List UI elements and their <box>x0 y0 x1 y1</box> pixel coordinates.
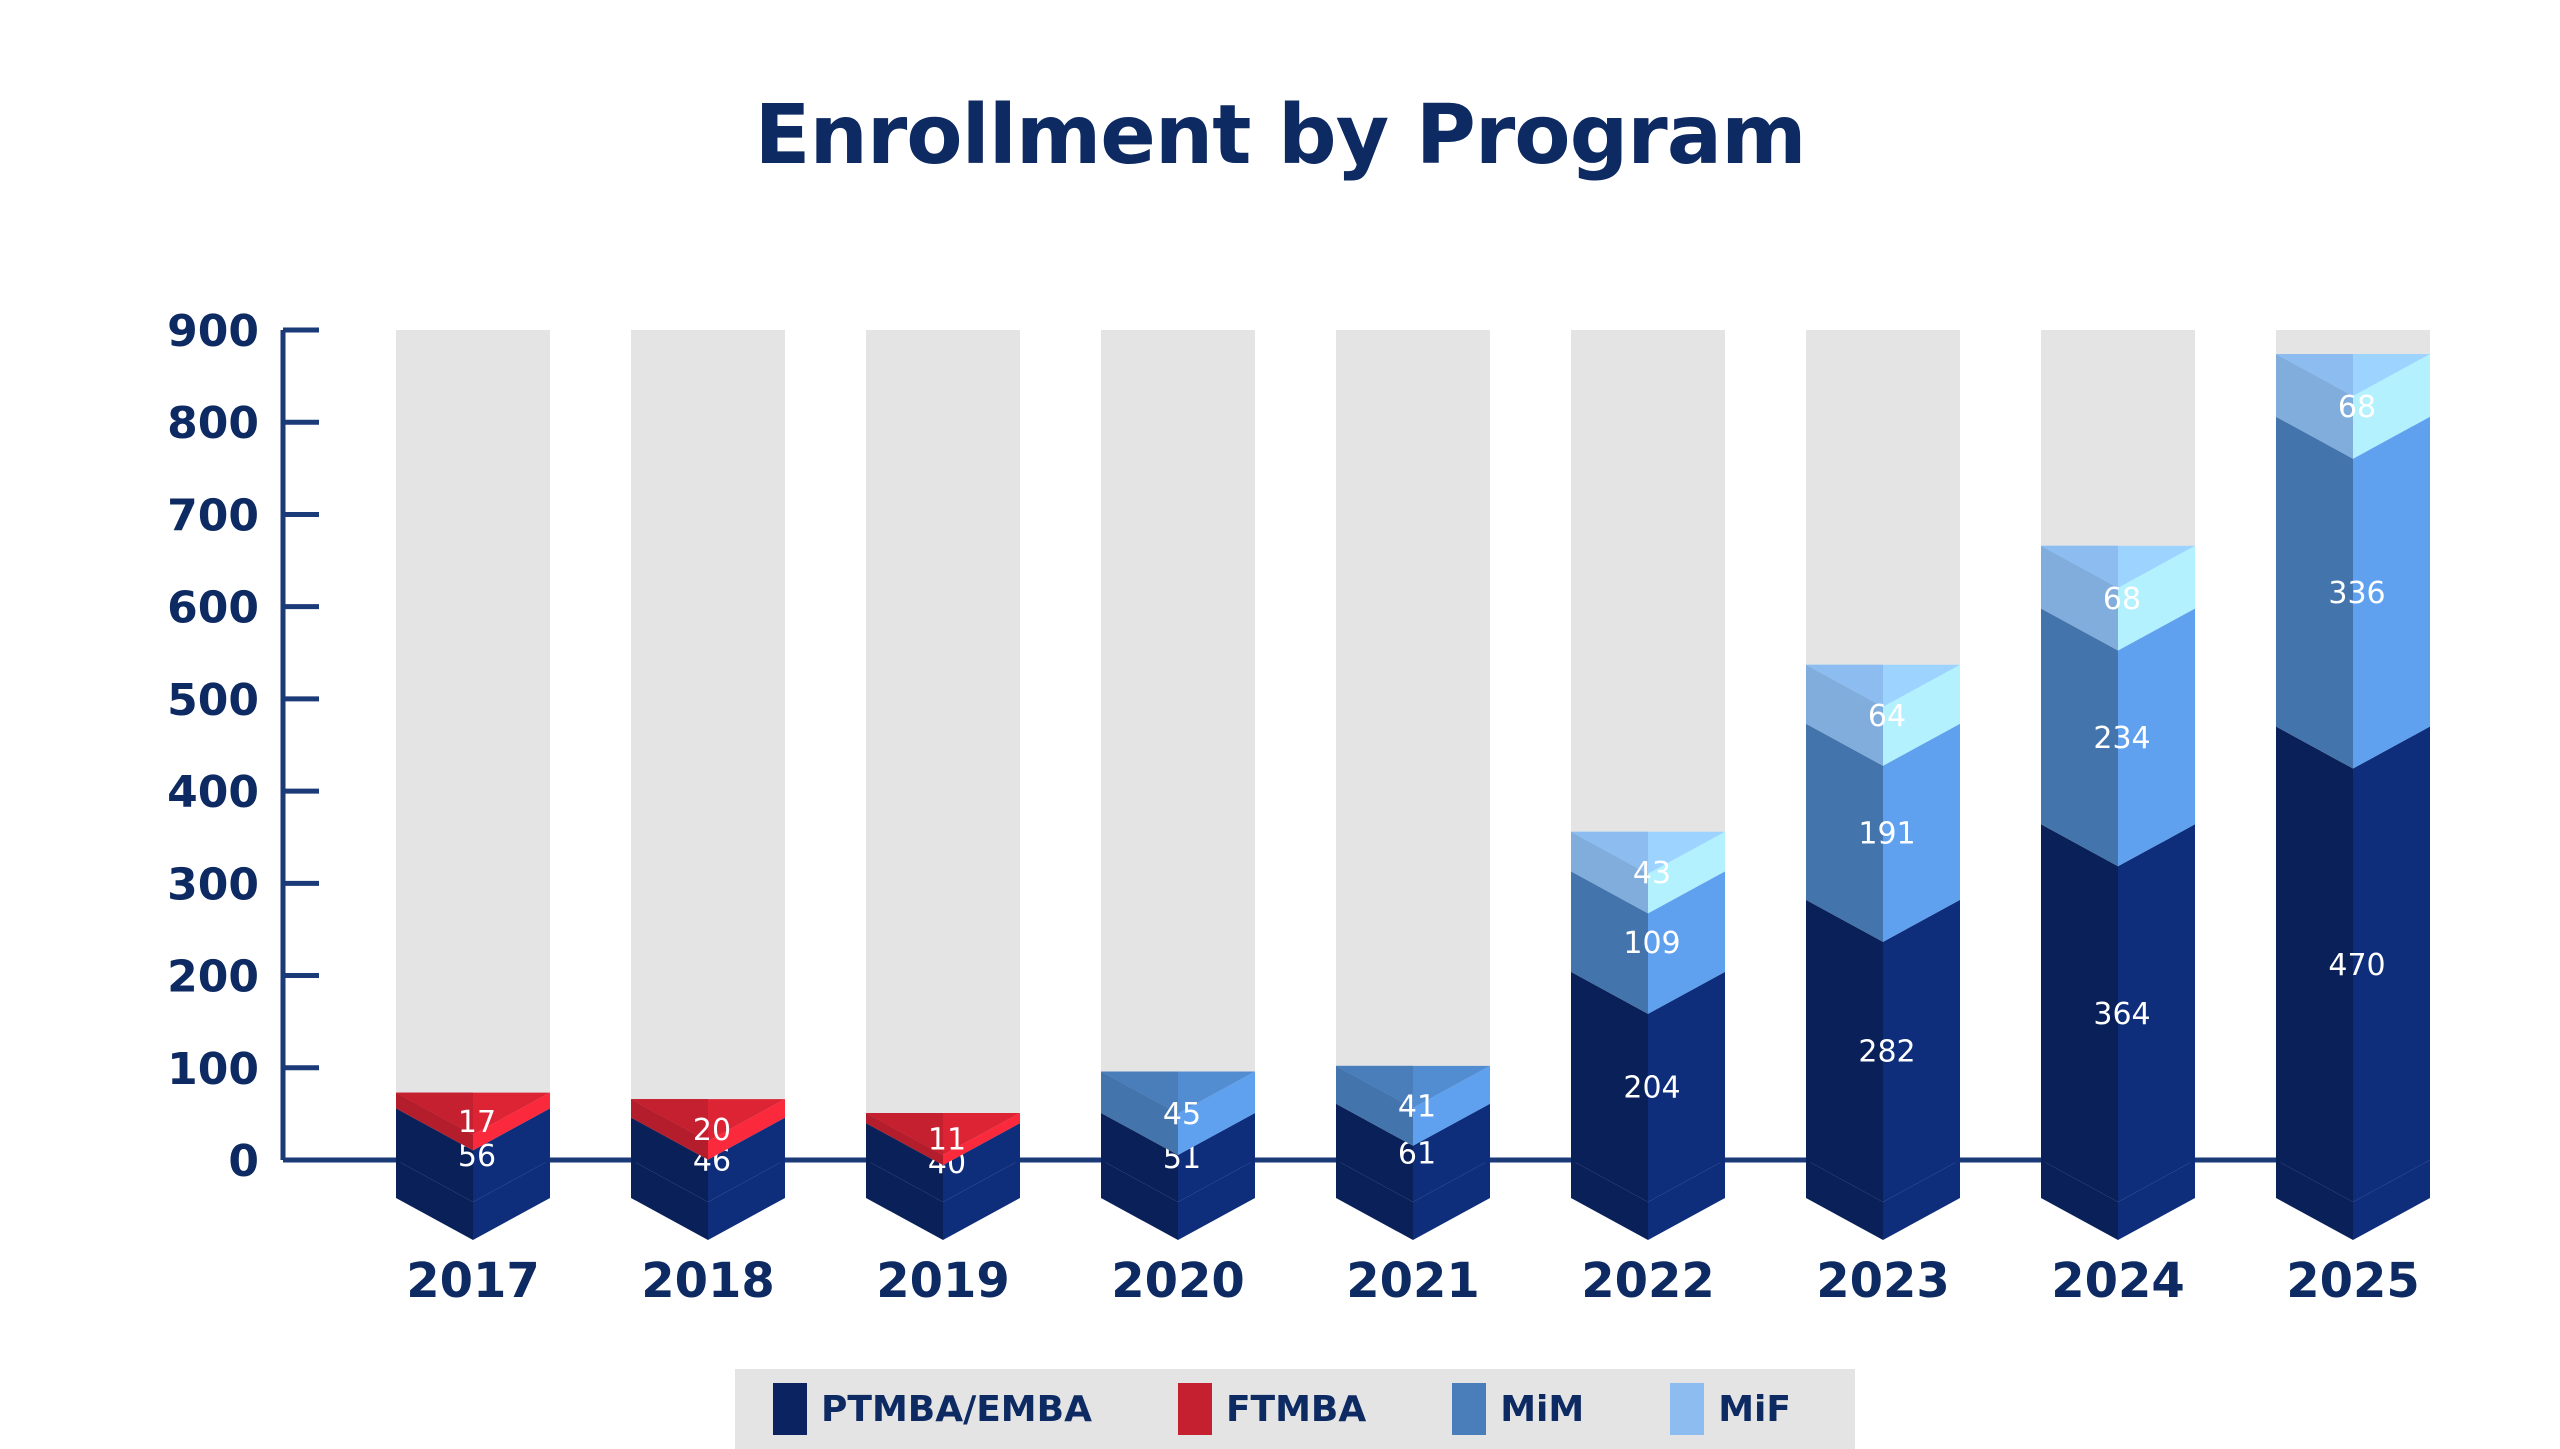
legend-swatch <box>1452 1383 1486 1435</box>
x-axis-tick-label: 2018 <box>641 1253 775 1309</box>
x-axis-tick-label: 2021 <box>1346 1253 1480 1309</box>
bar-track <box>1336 330 1490 1160</box>
bar-value-label: 43 <box>1633 856 1671 891</box>
bar-column[interactable]: 47033668 <box>2276 330 2430 1240</box>
bar-value-label: 336 <box>2328 576 2385 611</box>
legend-label: MiF <box>1718 1389 1791 1430</box>
bar-value-label: 234 <box>2093 721 2150 756</box>
bar-track <box>866 330 1020 1160</box>
bar-value-label: 204 <box>1623 1071 1680 1106</box>
bar-value-label: 45 <box>1163 1097 1201 1132</box>
legend-item[interactable]: MiM <box>1452 1383 1584 1435</box>
y-axis-tick-label: 400 <box>167 767 259 818</box>
bar-value-label: 68 <box>2338 390 2376 425</box>
legend-swatch <box>1178 1383 1212 1435</box>
y-axis-tick-label: 0 <box>228 1136 259 1187</box>
legend-label: FTMBA <box>1226 1389 1366 1430</box>
bar-column[interactable]: 28219164 <box>1806 330 1960 1240</box>
bar-value-label: 41 <box>1398 1089 1436 1124</box>
bar-value-label: 109 <box>1623 926 1680 961</box>
chart-container: Enrollment by Program 010020030040050060… <box>0 0 2560 1449</box>
bar-column[interactable]: 6141 <box>1336 330 1490 1240</box>
legend-swatch <box>773 1383 807 1435</box>
bar-value-label: 68 <box>2103 582 2141 617</box>
bar-value-label: 17 <box>458 1105 496 1140</box>
stacked-bar-plot: 0100200300400500600700800900561720174620… <box>0 0 2560 1340</box>
y-axis-tick-label: 800 <box>167 398 259 449</box>
bar-column[interactable]: 20410943 <box>1571 330 1725 1240</box>
bar-column[interactable]: 36423468 <box>2041 330 2195 1240</box>
x-axis-tick-label: 2022 <box>1581 1253 1715 1309</box>
bar-column[interactable]: 5145 <box>1101 330 1255 1240</box>
chart-legend: PTMBA/EMBAFTMBAMiMMiF <box>735 1369 1855 1449</box>
legend-item[interactable]: FTMBA <box>1178 1383 1366 1435</box>
y-axis-tick-label: 700 <box>167 490 259 541</box>
bar-column[interactable]: 4011 <box>866 330 1020 1240</box>
bar-value-label: 20 <box>693 1113 731 1148</box>
x-axis-tick-label: 2025 <box>2286 1253 2420 1309</box>
bar-value-label: 64 <box>1868 699 1906 734</box>
x-axis-tick-label: 2023 <box>1816 1253 1950 1309</box>
legend-item[interactable]: MiF <box>1670 1383 1791 1435</box>
y-axis-tick-label: 600 <box>167 583 259 634</box>
bar-track <box>631 330 785 1160</box>
x-axis-tick-label: 2020 <box>1111 1253 1245 1309</box>
legend-label: MiM <box>1500 1389 1584 1430</box>
x-axis-tick-label: 2017 <box>406 1253 540 1309</box>
bar-column[interactable]: 4620 <box>631 330 785 1240</box>
bar-value-label: 191 <box>1858 816 1915 851</box>
y-axis-tick-label: 200 <box>167 952 259 1003</box>
bar-value-label: 11 <box>928 1123 966 1158</box>
bar-value-label: 470 <box>2328 948 2385 983</box>
legend-label: PTMBA/EMBA <box>821 1389 1092 1430</box>
bar-track <box>396 330 550 1160</box>
x-axis-tick-label: 2024 <box>2051 1253 2185 1309</box>
bar-column[interactable]: 5617 <box>396 330 550 1240</box>
legend-item[interactable]: PTMBA/EMBA <box>773 1383 1092 1435</box>
y-axis-tick-label: 300 <box>167 859 259 910</box>
y-axis-tick-label: 100 <box>167 1044 259 1095</box>
bar-value-label: 364 <box>2093 997 2150 1032</box>
bar-track <box>1101 330 1255 1160</box>
bar-value-label: 282 <box>1858 1035 1915 1070</box>
y-axis-tick-label: 500 <box>167 675 259 726</box>
y-axis-tick-label: 900 <box>167 306 259 357</box>
legend-swatch <box>1670 1383 1704 1435</box>
x-axis-tick-label: 2019 <box>876 1253 1010 1309</box>
